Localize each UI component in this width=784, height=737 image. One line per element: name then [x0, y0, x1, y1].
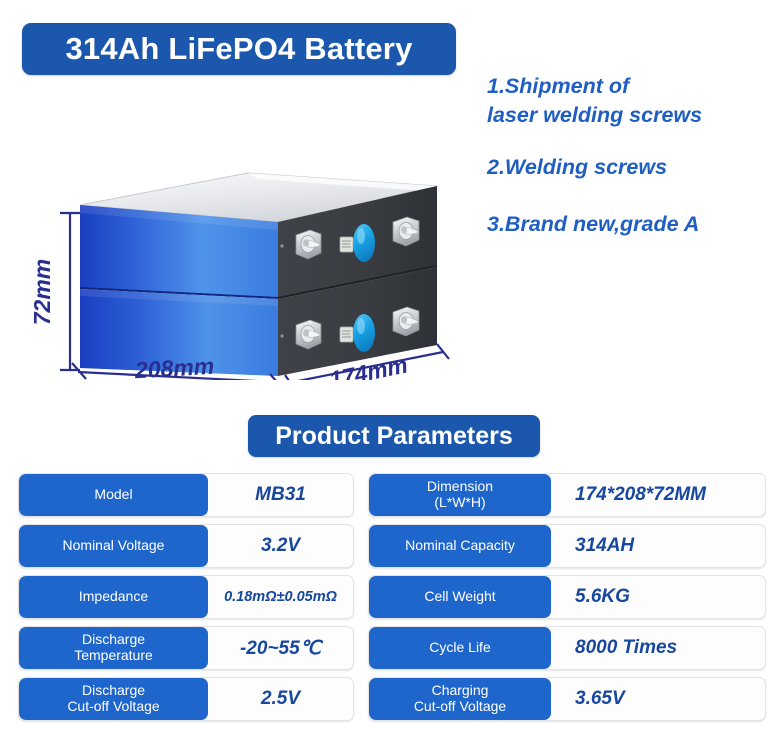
battery-illustration: 72mm 208mm 174mm [0, 80, 490, 380]
parameter-value: 314AH [551, 525, 765, 567]
parameter-value: 5.6KG [551, 576, 765, 618]
parameter-value: -20~55℃ [208, 627, 353, 669]
table-row: Nominal Voltage 3.2V [18, 524, 354, 568]
dimension-height-label: 72mm [29, 259, 55, 325]
table-row: Nominal Capacity 314AH [368, 524, 766, 568]
parameter-label: Model [19, 474, 208, 516]
parameter-value: MB31 [208, 474, 353, 516]
parameter-value: 2.5V [208, 678, 353, 720]
terminal-bolt-icon [393, 307, 419, 336]
parameter-label: Nominal Capacity [369, 525, 551, 567]
parameter-label: Discharge Cut-off Voltage [19, 678, 208, 720]
terminal-bolt-icon [296, 230, 321, 259]
parameter-label: Impedance [19, 576, 208, 618]
table-row: Cell Weight 5.6KG [368, 575, 766, 619]
product-title-banner: 314Ah LiFePO4 Battery [22, 23, 456, 75]
feature-item: 3.Brand new,grade A [487, 210, 782, 239]
table-row: Charging Cut-off Voltage 3.65V [368, 677, 766, 721]
terminal-bolt-icon [393, 217, 419, 246]
terminal-bolt-icon [296, 320, 321, 349]
parameter-label: Discharge Temperature [19, 627, 208, 669]
table-row: Dimension (L*W*H) 174*208*72MM [368, 473, 766, 517]
feature-item: 2.Welding screws [487, 153, 782, 182]
parameter-label: Cycle Life [369, 627, 551, 669]
table-row: Discharge Temperature -20~55℃ [18, 626, 354, 670]
parameter-table-right: Dimension (L*W*H) 174*208*72MM Nominal C… [368, 473, 766, 728]
parameter-label: Charging Cut-off Voltage [369, 678, 551, 720]
table-row: Discharge Cut-off Voltage 2.5V [18, 677, 354, 721]
parameter-label: Dimension (L*W*H) [369, 474, 551, 516]
parameter-table-left: Model MB31 Nominal Voltage 3.2V Impedanc… [18, 473, 354, 728]
product-parameters-banner: Product Parameters [248, 415, 540, 457]
product-parameters-text: Product Parameters [275, 422, 513, 451]
dimension-height: 72mm [29, 213, 80, 370]
table-row: Cycle Life 8000 Times [368, 626, 766, 670]
product-title-text: 314Ah LiFePO4 Battery [65, 31, 412, 67]
table-row: Impedance 0.18mΩ±0.05mΩ [18, 575, 354, 619]
parameter-label: Nominal Voltage [19, 525, 208, 567]
feature-item: 1.Shipment of laser welding screws [487, 72, 782, 129]
parameter-value: 8000 Times [551, 627, 765, 669]
parameter-value: 3.2V [208, 525, 353, 567]
parameter-value: 174*208*72MM [551, 474, 765, 516]
dimension-length-label: 208mm [133, 353, 215, 380]
parameter-value: 3.65V [551, 678, 765, 720]
parameter-value: 0.18mΩ±0.05mΩ [208, 576, 353, 618]
table-row: Model MB31 [18, 473, 354, 517]
parameter-label: Cell Weight [369, 576, 551, 618]
feature-list: 1.Shipment of laser welding screws 2.Wel… [487, 72, 782, 257]
